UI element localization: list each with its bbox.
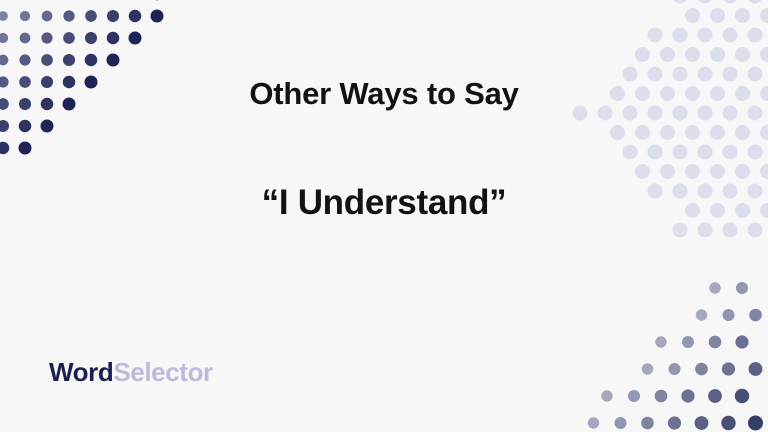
headline-eyebrow: Other Ways to Say: [0, 74, 768, 114]
headline-phrase: “I Understand”: [0, 180, 768, 226]
brand-logo: WordSelector: [49, 357, 213, 387]
slide-canvas: Other Ways to Say “I Understand” WordSel…: [0, 0, 768, 432]
brand-logo-primary: Word: [49, 357, 113, 387]
brand-logo-secondary: Selector: [113, 357, 212, 387]
